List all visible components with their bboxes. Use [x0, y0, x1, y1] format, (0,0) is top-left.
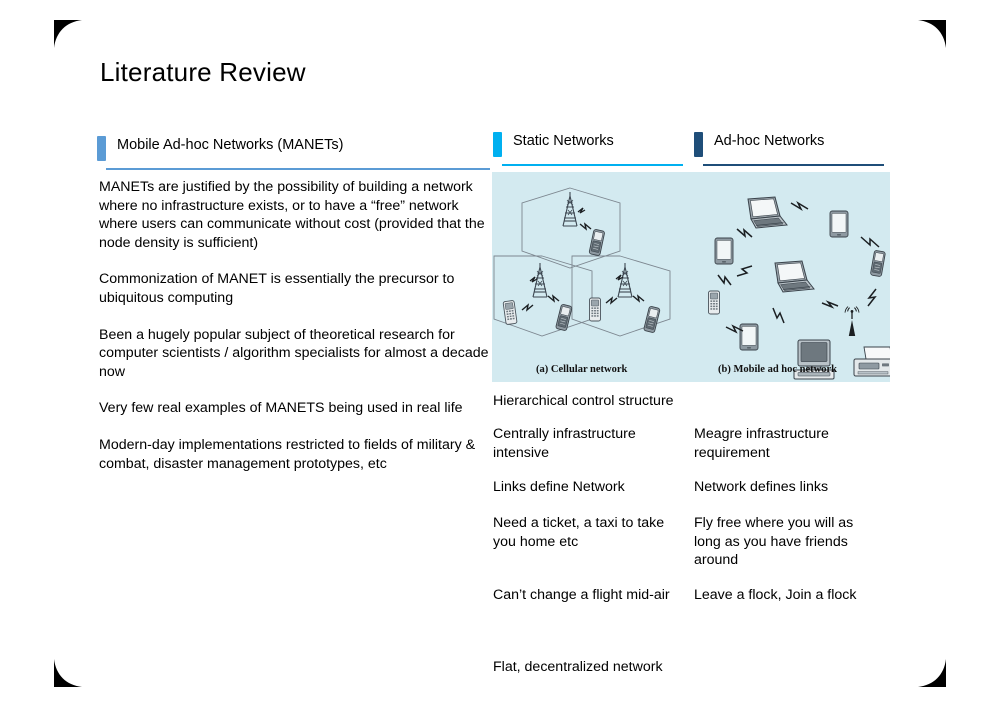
header-rule-adhoc — [703, 164, 884, 166]
slide-canvas: Literature Review Mobile Ad-hoc Networks… — [0, 0, 1000, 707]
table-row: Flat, decentralized network — [493, 658, 893, 694]
cell-static: Flat, decentralized network — [493, 658, 679, 677]
table-row: Centrally infrastructure intensive Meagr… — [493, 425, 893, 478]
accent-tab-adhoc — [694, 132, 703, 157]
figure-caption-a: (a) Cellular network — [536, 364, 627, 375]
manets-paragraph: Been a hugely popular subject of theoret… — [99, 326, 491, 382]
corner-bracket-top-left-icon — [52, 18, 86, 52]
header-rule-manets — [106, 168, 490, 170]
header-rule-static — [502, 164, 683, 166]
accent-tab-manets — [97, 136, 106, 161]
cell-static: Links define Network — [493, 478, 679, 497]
accent-tab-static — [493, 132, 502, 157]
table-row — [493, 622, 893, 658]
manets-body-text: MANETs are justified by the possibility … — [99, 178, 491, 491]
table-row: Need a ticket, a taxi to take you home e… — [493, 514, 893, 586]
corner-bracket-top-right-icon — [914, 18, 948, 52]
cell-adhoc: Leave a flock, Join a flock — [694, 586, 884, 605]
cell-adhoc: Network defines links — [694, 478, 884, 497]
column-header-manets: Mobile Ad-hoc Networks (MANETs) — [97, 136, 490, 170]
page-title: Literature Review — [100, 57, 306, 88]
manets-paragraph: Very few real examples of MANETS being u… — [99, 399, 491, 418]
column-header-manets-label: Mobile Ad-hoc Networks (MANETs) — [117, 137, 343, 153]
cell-static: Need a ticket, a taxi to take you home e… — [493, 514, 679, 551]
cell-static: Hierarchical control structure — [493, 392, 679, 411]
comparison-table: Hierarchical control structure Centrally… — [493, 392, 893, 694]
figure-caption-b: (b) Mobile ad hoc network — [718, 364, 837, 375]
manets-paragraph: Modern-day implementations restricted to… — [99, 436, 491, 473]
manets-paragraph: Commonization of MANET is essentially th… — [99, 270, 491, 307]
table-row: Hierarchical control structure — [493, 392, 893, 425]
corner-bracket-bottom-right-icon — [914, 655, 948, 689]
manets-paragraph: MANETs are justified by the possibility … — [99, 178, 491, 252]
column-header-adhoc-label: Ad-hoc Networks — [714, 133, 824, 149]
cell-static: Centrally infrastructure intensive — [493, 425, 679, 462]
cell-static: Can’t change a flight mid-air — [493, 586, 679, 605]
corner-bracket-bottom-left-icon — [52, 655, 86, 689]
cell-adhoc: Fly free where you will as long as you h… — [694, 514, 884, 570]
network-diagram-figure: (a) Cellular network (b) Mobile ad hoc n… — [492, 172, 890, 382]
table-row: Can’t change a flight mid-air Leave a fl… — [493, 586, 893, 622]
column-header-static: Static Networks — [493, 132, 683, 166]
column-header-static-label: Static Networks — [513, 133, 614, 149]
column-header-adhoc: Ad-hoc Networks — [694, 132, 884, 166]
cell-adhoc: Meagre infrastructure requirement — [694, 425, 884, 462]
table-row: Links define Network Network defines lin… — [493, 478, 893, 514]
